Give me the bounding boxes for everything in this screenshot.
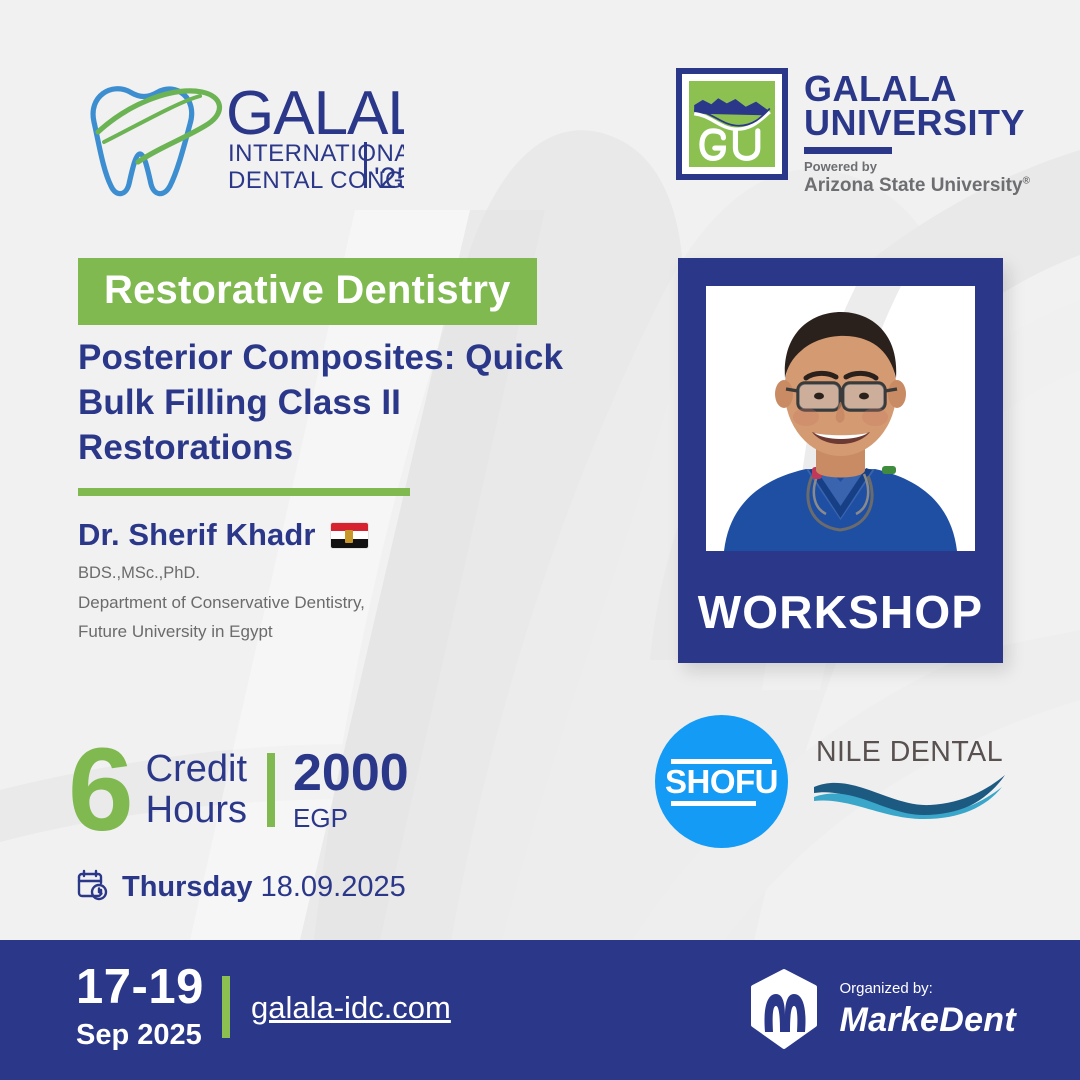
sponsor-logos: SHOFU NILE DENTAL: [655, 706, 1015, 856]
registered-mark-icon: ®: [1023, 176, 1030, 187]
credit-hours-label: Credit Hours: [146, 749, 247, 831]
title-divider: [78, 488, 410, 496]
speaker-photo: [706, 286, 975, 551]
nile-dental-logo: NILE DENTAL: [812, 738, 1007, 824]
nile-wave-icon: [812, 767, 1007, 819]
session-title: Posterior Composites: Quick Bulk Filling…: [78, 336, 608, 470]
organizer-block: Organized by: MarkeDent: [743, 968, 1016, 1050]
speaker-affiliation-line-1: Department of Conservative Dentistry,: [78, 589, 598, 617]
price-block: 2000 EGP: [293, 747, 409, 833]
price-amount: 2000: [293, 747, 409, 799]
university-title-line-1: GALALA: [804, 72, 1030, 106]
svg-text:'25: '25: [374, 162, 404, 195]
price-separator: [267, 753, 275, 827]
credits-price-block: 6 Credit Hours 2000 EGP: [68, 740, 409, 840]
organizer-text: Organized by: MarkeDent: [839, 981, 1016, 1037]
speaker-name: Dr. Sherif Khadr: [78, 518, 316, 552]
university-partner-name: Arizona State University: [804, 175, 1023, 196]
gu-mark-icon: [676, 68, 788, 180]
speaker-photo-card: WORKSHOP: [678, 258, 1003, 663]
university-rule: [804, 147, 892, 154]
date-text: Thursday 18.09.2025: [122, 873, 406, 902]
speaker-name-row: Dr. Sherif Khadr: [78, 518, 598, 552]
svg-text:GALALA: GALALA: [226, 79, 404, 148]
footer-website-link[interactable]: galala-idc.com: [251, 992, 451, 1023]
credit-hours-label-line-1: Credit: [146, 749, 247, 790]
nile-dental-logo-text: NILE DENTAL: [812, 738, 1007, 767]
date-weekday: Thursday: [122, 871, 253, 903]
poster-canvas: GALALA INTERNATIONAL DENTAL CONGRESS '25: [0, 0, 1080, 1080]
shofu-logo: SHOFU: [655, 715, 788, 848]
university-logo: GALALA UNIVERSITY Powered by Arizona Sta…: [676, 68, 1016, 196]
shofu-logo-text: SHOFU: [655, 765, 788, 799]
organizer-name: MarkeDent: [839, 1003, 1016, 1037]
credit-hours-label-line-2: Hours: [146, 790, 247, 831]
congress-logo: GALALA INTERNATIONAL DENTAL CONGRESS '25: [74, 66, 404, 200]
footer-bar: 17-19 Sep 2025 galala-idc.com Organized …: [0, 940, 1080, 1080]
university-partner: Arizona State University®: [804, 175, 1030, 197]
date-value: 18.09.2025: [261, 871, 406, 903]
university-powered-by: Powered by: [804, 160, 1030, 175]
markedent-logo-icon: [743, 968, 825, 1050]
speaker-block: Dr. Sherif Khadr BDS.,MSc.,PhD. Departme…: [78, 518, 598, 646]
credit-hours-number: 6: [68, 740, 132, 840]
footer-dates-range: 17-19: [76, 963, 204, 1012]
track-badge: Restorative Dentistry: [78, 258, 537, 325]
university-title-line-2: UNIVERSITY: [804, 106, 1030, 140]
organized-by-label: Organized by:: [839, 981, 1016, 996]
egypt-flag-icon: [331, 523, 368, 548]
footer-separator: [222, 976, 230, 1038]
session-type-label: WORKSHOP: [678, 585, 1003, 639]
date-row: Thursday 18.09.2025: [75, 868, 406, 907]
price-currency: EGP: [293, 804, 409, 833]
footer-dates-month: Sep 2025: [76, 1021, 204, 1050]
speaker-degrees: BDS.,MSc.,PhD.: [78, 561, 598, 587]
speaker-affiliation-line-2: Future University in Egypt: [78, 618, 598, 646]
calendar-clock-icon: [75, 868, 109, 907]
footer-dates: 17-19 Sep 2025: [76, 963, 204, 1050]
